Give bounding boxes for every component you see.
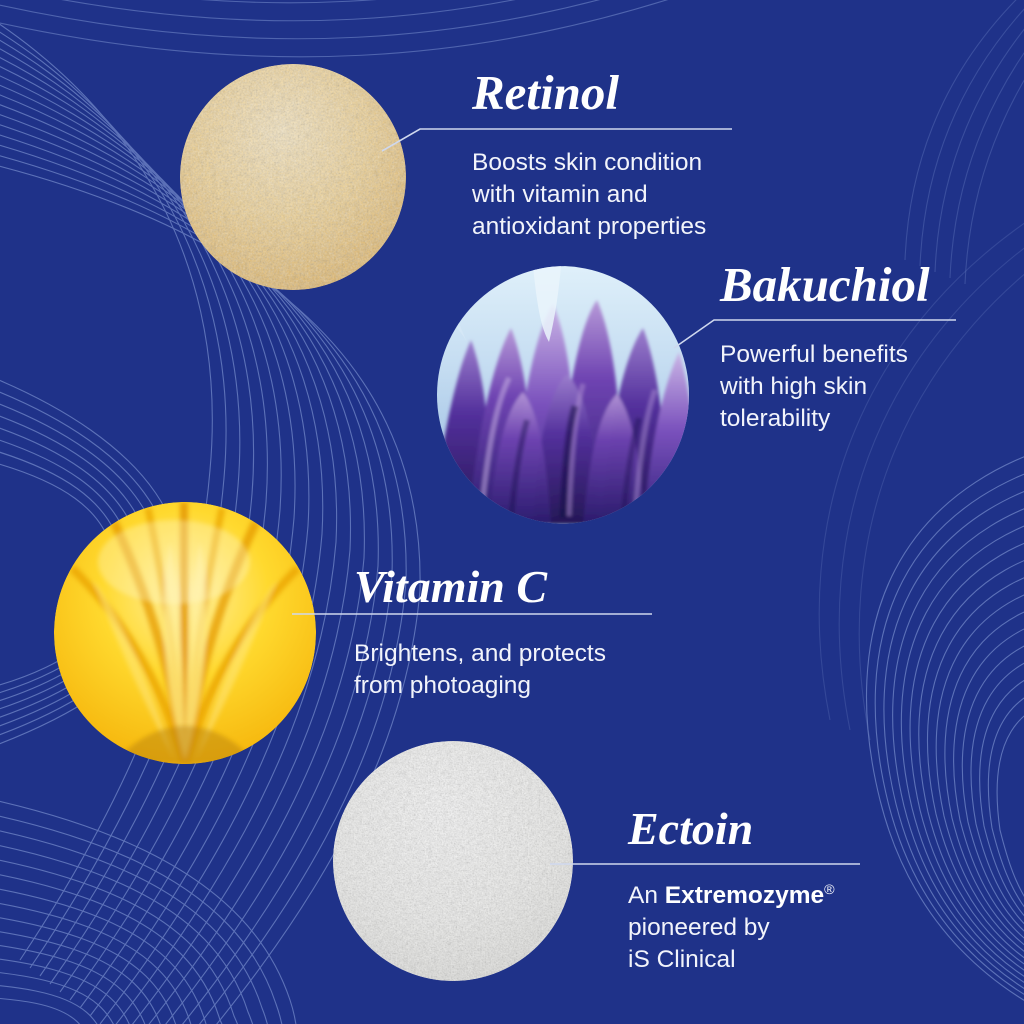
retinol-powder-image bbox=[180, 64, 406, 290]
ingredient-info-retinol: Retinol Boosts skin condition with vitam… bbox=[472, 68, 772, 243]
description-line: from photoaging bbox=[354, 670, 674, 702]
ingredient-info-ectoin: Ectoin An Extremozyme® pioneered by iS C… bbox=[628, 806, 928, 976]
description-line: with high skin bbox=[720, 371, 1020, 403]
description-text-prefix: An bbox=[628, 882, 665, 909]
ingredient-title-vitamin-c: Vitamin C bbox=[354, 564, 674, 610]
ingredient-description-ectoin: An Extremozyme® pioneered by iS Clinical bbox=[628, 880, 928, 976]
ingredient-description-vitamin-c: Brightens, and protects from photoaging bbox=[354, 638, 674, 702]
description-line: pioneered by bbox=[628, 912, 928, 944]
extremozyme-trademark-name: Extremozyme bbox=[665, 882, 824, 909]
ingredient-info-bakuchiol: Bakuchiol Powerful benefits with high sk… bbox=[720, 260, 1020, 435]
description-line: antioxidant properties bbox=[472, 211, 772, 243]
ingredient-description-retinol: Boosts skin condition with vitamin and a… bbox=[472, 147, 772, 243]
description-line: Brightens, and protects bbox=[354, 638, 674, 670]
description-line: with vitamin and bbox=[472, 179, 772, 211]
ingredient-title-retinol: Retinol bbox=[472, 68, 772, 117]
description-line: Powerful benefits bbox=[720, 339, 1020, 371]
vitamin-c-citrus-image bbox=[54, 502, 316, 764]
description-line: iS Clinical bbox=[628, 944, 928, 976]
ectoin-powder-image bbox=[333, 741, 573, 981]
description-line-rich: An Extremozyme® bbox=[628, 880, 928, 912]
registered-trademark-icon: ® bbox=[824, 882, 834, 898]
description-line: Boosts skin condition bbox=[472, 147, 772, 179]
ingredient-infographic: Retinol Boosts skin condition with vitam… bbox=[0, 0, 1024, 1024]
ingredient-title-ectoin: Ectoin bbox=[628, 806, 928, 852]
ingredient-info-vitamin-c: Vitamin C Brightens, and protects from p… bbox=[354, 564, 674, 702]
description-line: tolerability bbox=[720, 403, 1020, 435]
ingredient-description-bakuchiol: Powerful benefits with high skin tolerab… bbox=[720, 339, 1020, 435]
ingredient-title-bakuchiol: Bakuchiol bbox=[720, 260, 1020, 309]
bakuchiol-flower-image bbox=[437, 266, 695, 524]
